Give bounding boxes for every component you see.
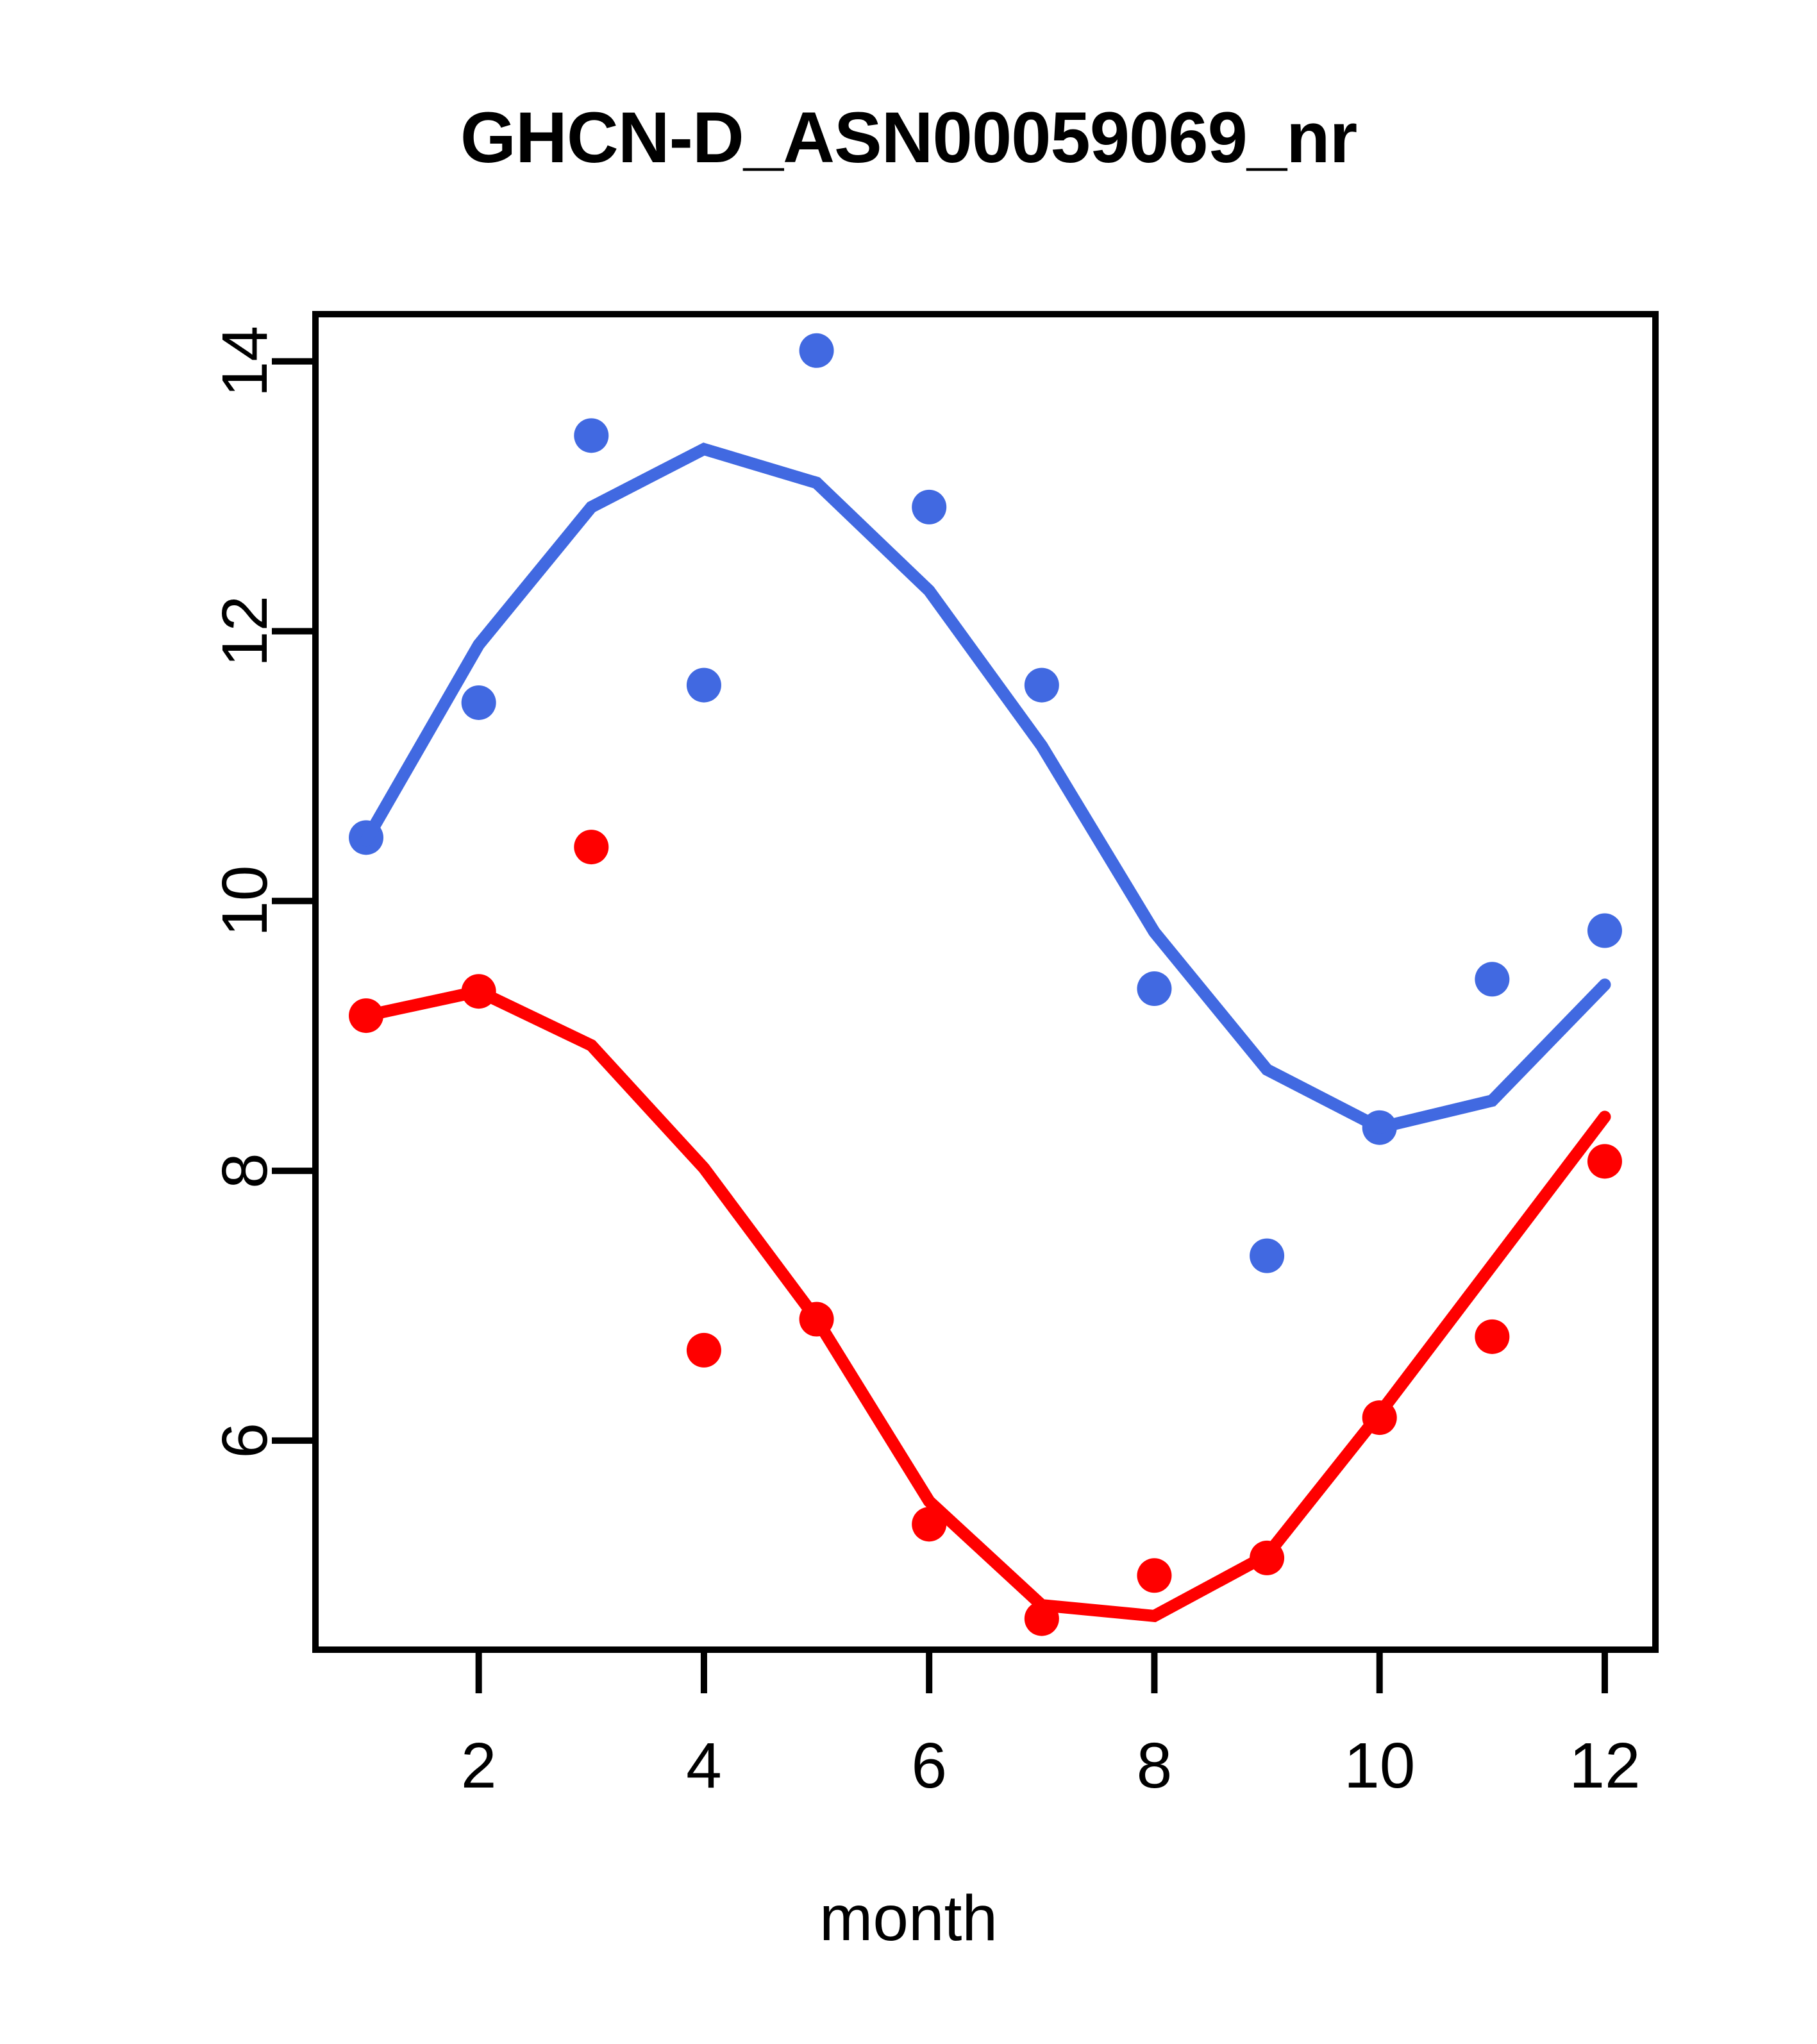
series-blue-points bbox=[349, 333, 1622, 1273]
x-axis-title: month bbox=[0, 1882, 1817, 1956]
data-point bbox=[1587, 1144, 1622, 1178]
series-red-line bbox=[366, 991, 1605, 1616]
series-red-points bbox=[349, 830, 1622, 1636]
y-tick-label: 10 bbox=[209, 866, 281, 937]
plot-box bbox=[315, 314, 1655, 1650]
x-tick-label: 8 bbox=[1137, 1730, 1173, 1802]
data-point bbox=[687, 668, 721, 703]
data-point bbox=[462, 685, 496, 720]
plot-canvas: 68101214 24681012 bbox=[0, 0, 1817, 2044]
trend-line bbox=[366, 991, 1605, 1616]
data-point bbox=[1025, 668, 1059, 703]
x-tick-label: 4 bbox=[686, 1730, 722, 1802]
data-point bbox=[912, 490, 946, 524]
x-axis-tick-marks bbox=[479, 1650, 1605, 1693]
y-tick-label: 14 bbox=[209, 326, 281, 397]
scatter-line-plot: 68101214 24681012 bbox=[0, 0, 1817, 2044]
data-point bbox=[1475, 962, 1509, 996]
data-series-layer bbox=[349, 333, 1622, 1636]
y-axis-tick-marks bbox=[272, 362, 315, 1441]
x-tick-label: 10 bbox=[1344, 1730, 1415, 1802]
data-point bbox=[800, 333, 834, 368]
y-tick-label: 8 bbox=[209, 1153, 281, 1189]
data-point bbox=[1137, 1558, 1171, 1593]
y-tick-label: 12 bbox=[209, 596, 281, 667]
data-point bbox=[574, 418, 608, 453]
x-axis-tick-labels: 24681012 bbox=[461, 1730, 1641, 1802]
chart-page: GHCN-D_ASN00059069_nr 68101214 24681012 … bbox=[0, 0, 1817, 2044]
data-point bbox=[1250, 1239, 1284, 1273]
data-point bbox=[687, 1333, 721, 1368]
y-axis-tick-labels: 68101214 bbox=[209, 326, 281, 1459]
data-point bbox=[1587, 914, 1622, 948]
data-point bbox=[1475, 1319, 1509, 1354]
data-point bbox=[574, 830, 608, 864]
x-tick-label: 2 bbox=[461, 1730, 497, 1802]
plot-frame bbox=[315, 314, 1655, 1650]
x-tick-label: 6 bbox=[911, 1730, 947, 1802]
data-point bbox=[1137, 971, 1171, 1006]
y-tick-label: 6 bbox=[209, 1423, 281, 1459]
x-tick-label: 12 bbox=[1569, 1730, 1640, 1802]
